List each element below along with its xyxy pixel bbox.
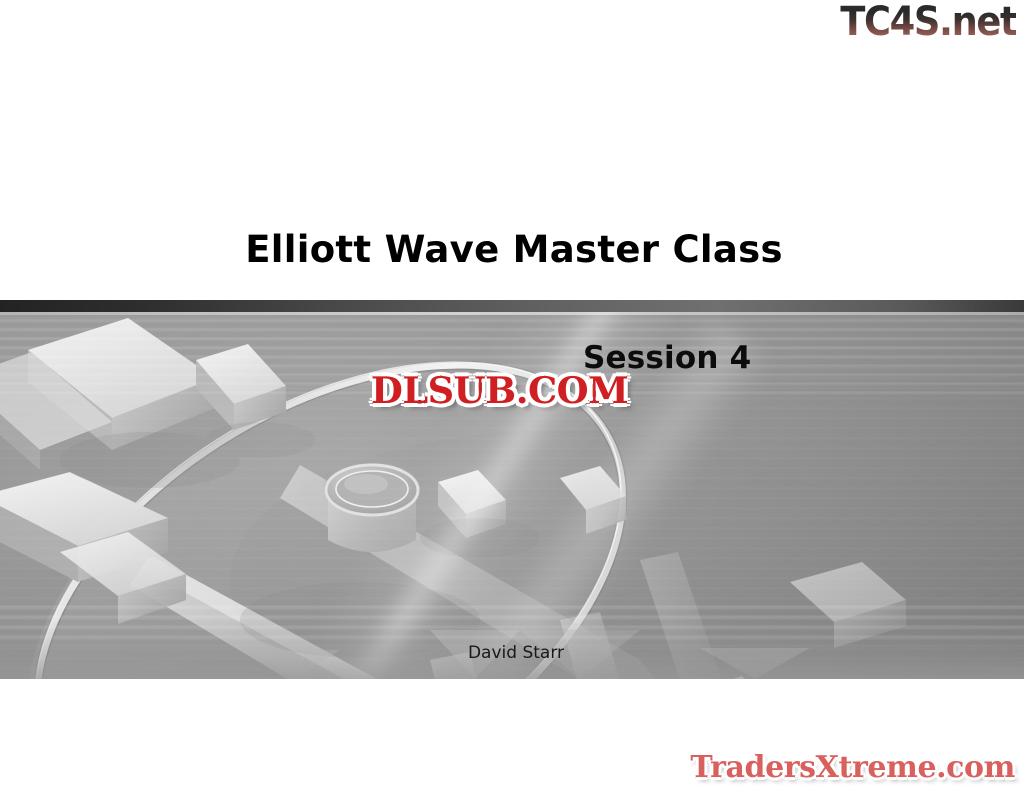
band-top-dark-bar <box>0 300 1024 312</box>
background-image-band <box>0 300 1024 679</box>
presentation-slide: TC4S.net Elliott Wave Master Class <box>0 0 1024 791</box>
dlsub-watermark: DLSUB.COM <box>371 373 628 409</box>
tradersxtreme-logo: TradersXtreme.com <box>690 753 1015 783</box>
page-title: Elliott Wave Master Class <box>0 228 1024 271</box>
abstract-3d-background-graphic <box>0 300 1024 679</box>
band-top-highlight-edge <box>0 312 1024 315</box>
author-name: David Starr <box>0 643 1024 663</box>
tc4s-logo: TC4S.net <box>840 2 1016 42</box>
